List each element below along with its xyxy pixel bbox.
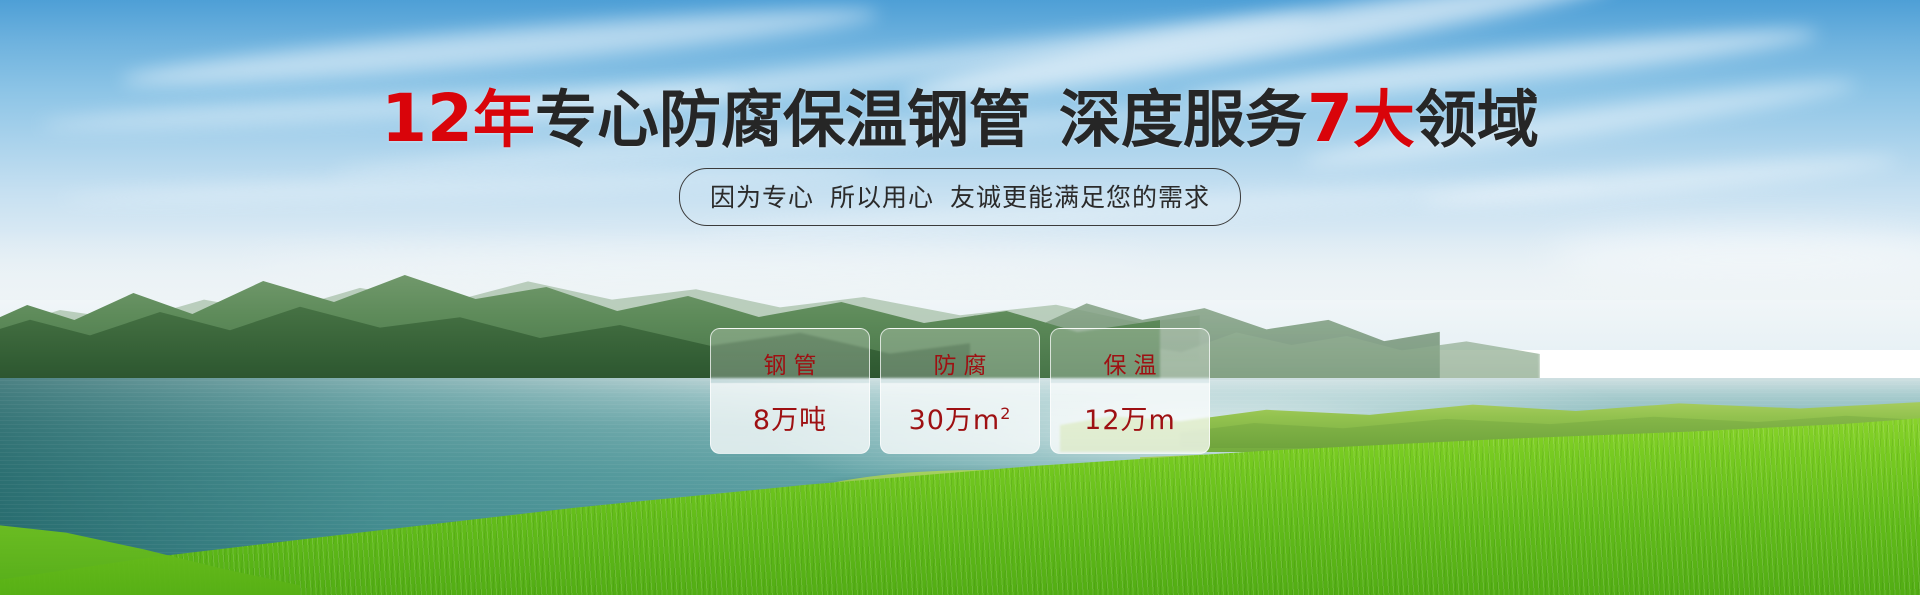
stat-card-title: 防腐 bbox=[927, 346, 994, 380]
subtitle-part-2: 所以用心 bbox=[830, 183, 934, 212]
stat-card-value-text: 30万m bbox=[909, 405, 1001, 436]
stat-card-value-superscript: 2 bbox=[1000, 404, 1011, 423]
subtitle-part-1: 因为专心 bbox=[710, 183, 814, 212]
stat-cards: 钢管 8万吨 防腐 30万m2 保温 12万m bbox=[710, 328, 1210, 454]
stat-card-steel-pipe: 钢管 8万吨 bbox=[710, 328, 870, 454]
stat-card-value: 12万m bbox=[1084, 398, 1176, 437]
hero-banner: 12年专心防腐保温钢管深度服务7大领域 因为专心所以用心友诚更能满足您的需求 钢… bbox=[0, 0, 1920, 595]
headline-service-text: 深度服务 bbox=[1059, 83, 1307, 156]
headline-years-unit: 年 bbox=[473, 83, 535, 156]
headline-domains-unit: 大 bbox=[1353, 83, 1415, 156]
stat-card-value: 8万吨 bbox=[753, 398, 827, 437]
stat-card-anticorrosion: 防腐 30万m2 bbox=[880, 328, 1040, 454]
stat-card-value-text: 12万m bbox=[1084, 405, 1176, 436]
stat-card-title: 保温 bbox=[1097, 346, 1164, 380]
stat-card-value-text: 8万吨 bbox=[753, 405, 827, 436]
headline-domains-tail: 领域 bbox=[1415, 83, 1539, 156]
stat-card-value: 30万m2 bbox=[909, 398, 1012, 437]
stat-card-insulation: 保温 12万m bbox=[1050, 328, 1210, 454]
headline-years-number: 12 bbox=[381, 80, 473, 157]
headline-main-text: 专心防腐保温钢管 bbox=[535, 83, 1031, 156]
banner-content: 12年专心防腐保温钢管深度服务7大领域 因为专心所以用心友诚更能满足您的需求 钢… bbox=[0, 0, 1920, 595]
headline: 12年专心防腐保温钢管深度服务7大领域 bbox=[0, 86, 1920, 152]
subtitle-pill: 因为专心所以用心友诚更能满足您的需求 bbox=[679, 168, 1241, 226]
headline-domains-number: 7 bbox=[1307, 80, 1353, 157]
stat-card-title: 钢管 bbox=[757, 346, 824, 380]
subtitle-part-3: 友诚更能满足您的需求 bbox=[950, 183, 1210, 212]
